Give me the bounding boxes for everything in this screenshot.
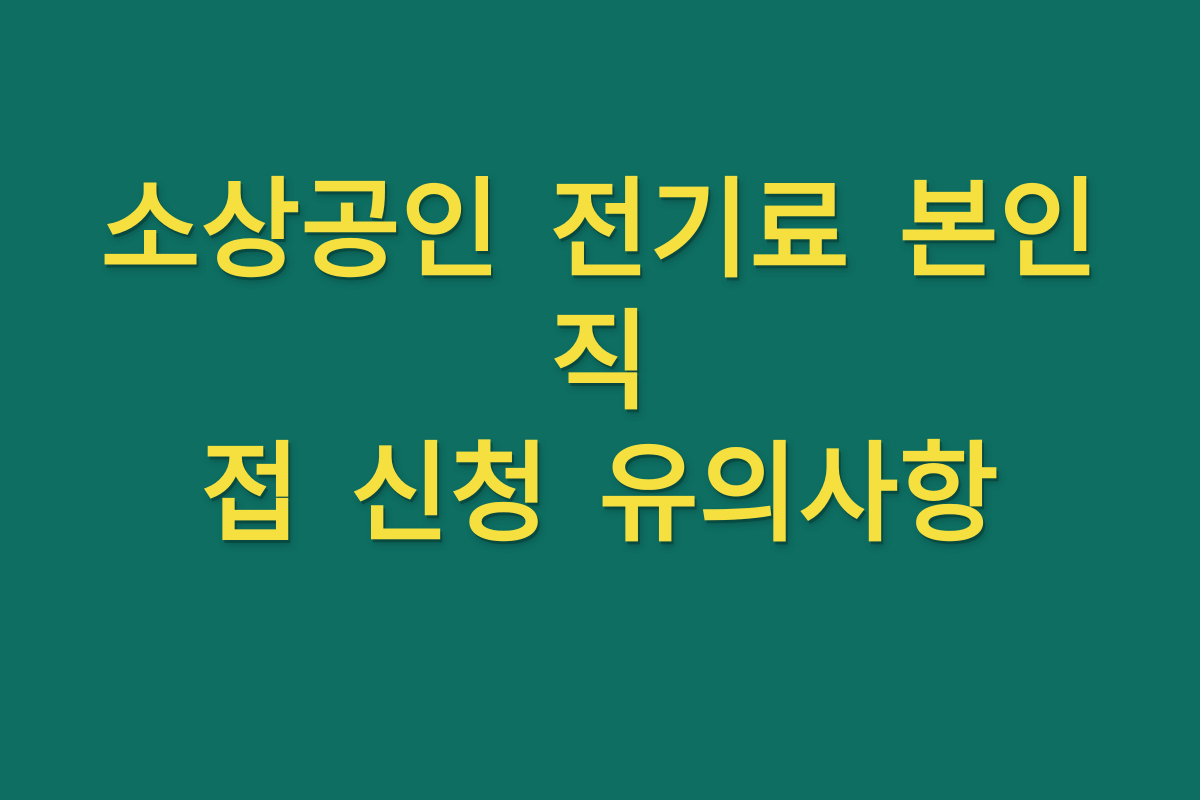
headline-line-1: 소상공인 전기료 본인 직: [70, 165, 1130, 429]
headline-block: 소상공인 전기료 본인 직 접 신청 유의사항: [70, 165, 1130, 560]
headline-line-2: 접 신청 유의사항: [70, 429, 1130, 561]
banner-canvas: 소상공인 전기료 본인 직 접 신청 유의사항: [0, 0, 1200, 800]
banner-headline: 소상공인 전기료 본인 직 접 신청 유의사항: [70, 165, 1130, 560]
